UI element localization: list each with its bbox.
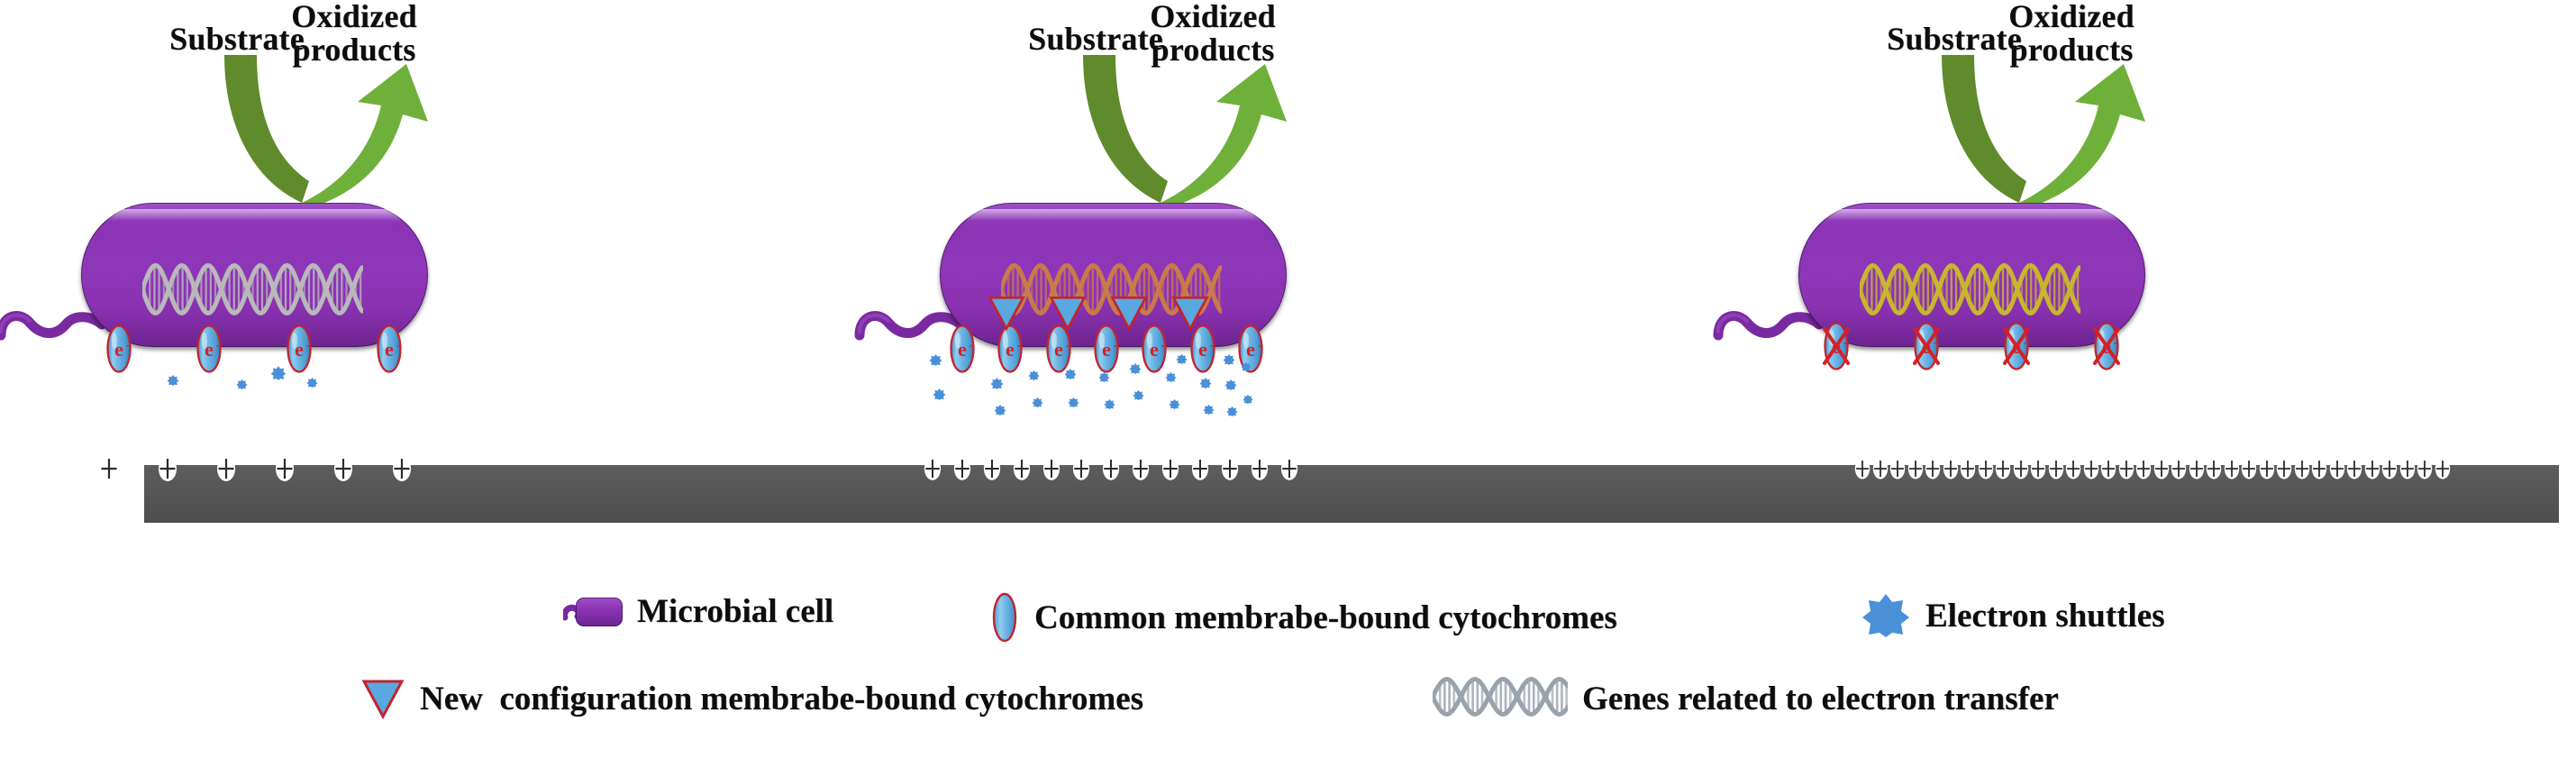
- svg-text:e: e: [1054, 338, 1063, 361]
- electron-shuttle: [1226, 406, 1238, 422]
- electrode-positive-charge: [2276, 455, 2292, 487]
- cytochrome-blocked: e -: [1821, 322, 1852, 370]
- electrode-positive-charge: [1995, 455, 2011, 487]
- electrode-positive-charge: [2135, 455, 2152, 487]
- electrode-positive-charge: [1042, 455, 1060, 487]
- legend-label-electron-shuttles: Electron shuttles: [1925, 597, 2165, 635]
- electron-shuttle: [1176, 353, 1188, 370]
- electrode-positive-charge: [2206, 455, 2222, 487]
- new-configuration-cytochrome: [1109, 293, 1149, 333]
- cytochrome-active: e -: [284, 324, 314, 373]
- new-configuration-cytochrome: [1170, 293, 1210, 333]
- electron-shuttle: [1098, 371, 1110, 388]
- electrode-positive-charge: [1854, 455, 1871, 487]
- substrate-oxidation-arrow-icon: [158, 50, 455, 212]
- genes-knocked-out: [1860, 263, 2080, 317]
- svg-text:e: e: [958, 338, 967, 361]
- genes-normal-expression: [142, 263, 363, 317]
- electron-shuttle: [306, 377, 318, 393]
- electrode-positive-charge: [1191, 455, 1209, 487]
- cytochrome-blocked: e -: [2001, 322, 2032, 370]
- svg-text:e: e: [385, 338, 394, 361]
- svg-text:-: -: [1843, 336, 1848, 350]
- svg-text:e: e: [205, 338, 214, 361]
- svg-text:e: e: [114, 338, 123, 361]
- electrode-positive-charge: [983, 455, 1001, 487]
- electrode-positive-charge: [924, 455, 942, 487]
- electrode-positive-charge: [2259, 455, 2275, 487]
- electrode-positive-charge: [1251, 455, 1269, 487]
- electrode-positive-charge: [1161, 455, 1179, 487]
- svg-text:-: -: [396, 339, 401, 352]
- electron-shuttle: [990, 377, 1004, 395]
- electron-shuttle-star-icon: [1861, 592, 1911, 639]
- legend-item-new-config-cytochromes: New configuration membrabe-bound cytochr…: [360, 677, 1143, 720]
- electron-shuttle: [1241, 361, 1252, 377]
- cytochrome-active: e -: [194, 324, 224, 373]
- electrode-positive-charge: [1872, 455, 1889, 487]
- electrode-positive-charge: [1102, 455, 1120, 487]
- electron-shuttle: [1203, 404, 1215, 420]
- electrode-positive-charge: [392, 455, 412, 487]
- electrode-positive-charge: [275, 455, 295, 487]
- electrode-positive-charge: [2013, 455, 2029, 487]
- new-config-triangle-icon: [360, 677, 405, 720]
- electrode-positive-charge: [1943, 455, 1959, 487]
- electron-shuttle: [1223, 353, 1235, 370]
- electrode-positive-charge: [2329, 455, 2345, 487]
- electrode-positive-charge: [216, 455, 236, 487]
- dna-helix-icon: [1433, 677, 1568, 721]
- electrode-positive-charge: [158, 455, 177, 487]
- legend-item-microbial-cell: Microbial cell: [563, 592, 833, 631]
- cytochrome-blocked: e -: [1911, 322, 1942, 370]
- electrode-positive-charge: [2381, 455, 2398, 487]
- svg-text:-: -: [1934, 336, 1938, 350]
- electrode-positive-charge: [2241, 455, 2257, 487]
- legend-item-electron-shuttles: Electron shuttles: [1861, 592, 2165, 639]
- legend-label-new-config-cytochromes: New configuration membrabe-bound cytochr…: [420, 680, 1143, 718]
- electrode-positive-charge: [2224, 455, 2240, 487]
- svg-text:-: -: [2114, 336, 2118, 350]
- electrode-positive-charge: [1280, 455, 1298, 487]
- electrode-positive-charge: [2399, 455, 2416, 487]
- svg-text:-: -: [1161, 339, 1166, 352]
- electron-shuttle: [1064, 368, 1077, 385]
- electron-shuttle: [1224, 379, 1237, 396]
- electrode-positive-charge: [1978, 455, 1994, 487]
- electrode-positive-charge: [1221, 455, 1239, 487]
- svg-text:-: -: [306, 339, 311, 352]
- electron-shuttle: [1242, 393, 1253, 409]
- svg-text:e: e: [1102, 338, 1111, 361]
- legend-label-common-cytochromes: Common membrabe-bound cytochromes: [1034, 598, 1617, 637]
- svg-text:e: e: [295, 338, 304, 361]
- cytochrome-active: e -: [104, 324, 134, 373]
- products-line-1: Oxidized: [2008, 0, 2135, 34]
- electrode-positive-charge: [2048, 455, 2064, 487]
- panel-wild-type: SubstrateOxidizedproducts e -: [0, 0, 859, 541]
- electron-shuttle: [1165, 371, 1177, 388]
- electrode-positive-charge: [1907, 455, 1924, 487]
- electrode-positive-charge: [1132, 455, 1150, 487]
- svg-text:e: e: [1006, 338, 1015, 361]
- electrode-positive-charge: [2417, 455, 2433, 487]
- cytochrome-ellipse-icon: [989, 592, 1020, 643]
- electrode-positive-charge: [2171, 455, 2187, 487]
- svg-text:-: -: [969, 339, 974, 352]
- electron-shuttle: [994, 404, 1006, 421]
- electrode-positive-charge: [2065, 455, 2081, 487]
- electrode-positive-charge: [2153, 455, 2170, 487]
- electrode-positive-charge: [2083, 455, 2099, 487]
- svg-text:-: -: [1258, 339, 1262, 352]
- electron-shuttle: [933, 388, 946, 406]
- svg-text:-: -: [1065, 339, 1070, 352]
- new-configuration-cytochrome: [987, 293, 1026, 333]
- svg-text:-: -: [1017, 339, 1022, 352]
- electrode-positive-charge: [2311, 455, 2327, 487]
- electron-shuttle: [1104, 398, 1115, 415]
- electrode-positive-charge: [1013, 455, 1031, 487]
- electrode-positive-charge: [1960, 455, 1976, 487]
- electron-shuttle: [1133, 389, 1144, 406]
- electrode-positive-charge: [2435, 455, 2451, 487]
- figure-canvas: SubstrateOxidizedproducts e -: [0, 0, 2576, 767]
- electron-shuttle: [1129, 362, 1142, 379]
- electrode-positive-charge: [2118, 455, 2135, 487]
- legend-item-common-cytochromes: Common membrabe-bound cytochromes: [989, 592, 1617, 643]
- electron-shuttle: [236, 379, 248, 395]
- cytochrome-active: e -: [374, 324, 405, 373]
- electrode-positive-charge: [2294, 455, 2310, 487]
- legend-row-2: New configuration membrabe-bound cytochr…: [0, 677, 2576, 733]
- svg-text:-: -: [1209, 339, 1214, 352]
- electrode-positive-charge: [2364, 455, 2380, 487]
- electrode-positive-charge: [2346, 455, 2362, 487]
- svg-text:e: e: [1198, 338, 1207, 361]
- electrode-positive-charge: [1925, 455, 1941, 487]
- svg-text:-: -: [126, 339, 131, 352]
- substrate-oxidation-arrow-icon: [1016, 50, 1314, 212]
- electrode-positive-charge: [2100, 455, 2116, 487]
- svg-text:e: e: [1246, 338, 1255, 361]
- svg-text:-: -: [1114, 339, 1118, 352]
- electron-shuttle: [929, 353, 942, 371]
- electron-shuttle: [1199, 377, 1212, 394]
- electron-shuttle: [1032, 397, 1043, 413]
- electron-shuttle: [270, 365, 287, 386]
- new-configuration-cytochrome: [1048, 293, 1088, 333]
- electrode-positive-charge: [953, 455, 971, 487]
- substrate-oxidation-arrow-icon: [1875, 50, 2172, 212]
- legend-item-genes: Genes related to electron transfer: [1433, 677, 2059, 721]
- electrode-positive-charge: [99, 455, 119, 487]
- electrode-positive-charge: [1889, 455, 1906, 487]
- svg-text:-: -: [216, 339, 221, 352]
- svg-text:-: -: [2024, 336, 2028, 350]
- cytochrome-active: e -: [947, 324, 978, 373]
- electrode-positive-charge: [2030, 455, 2046, 487]
- products-line-1: Oxidized: [1150, 0, 1276, 34]
- electron-shuttle: [167, 374, 179, 391]
- products-line-1: Oxidized: [291, 0, 417, 34]
- electron-shuttle: [1169, 398, 1180, 415]
- legend-label-genes: Genes related to electron transfer: [1582, 680, 2059, 718]
- electron-shuttle: [1028, 370, 1040, 386]
- electrode-positive-charge: [2189, 455, 2205, 487]
- legend-row-1: Microbial cell: [0, 590, 2576, 646]
- legend: Microbial cell: [0, 590, 2576, 733]
- electron-shuttle: [1068, 397, 1079, 413]
- electrode-positive-charge: [1072, 455, 1090, 487]
- svg-text:e: e: [1150, 338, 1159, 361]
- electrode-positive-charge: [333, 455, 353, 487]
- legend-label-microbial-cell: Microbial cell: [637, 592, 833, 631]
- microbial-cell-icon: [563, 596, 623, 628]
- cytochrome-blocked: e -: [2091, 322, 2122, 370]
